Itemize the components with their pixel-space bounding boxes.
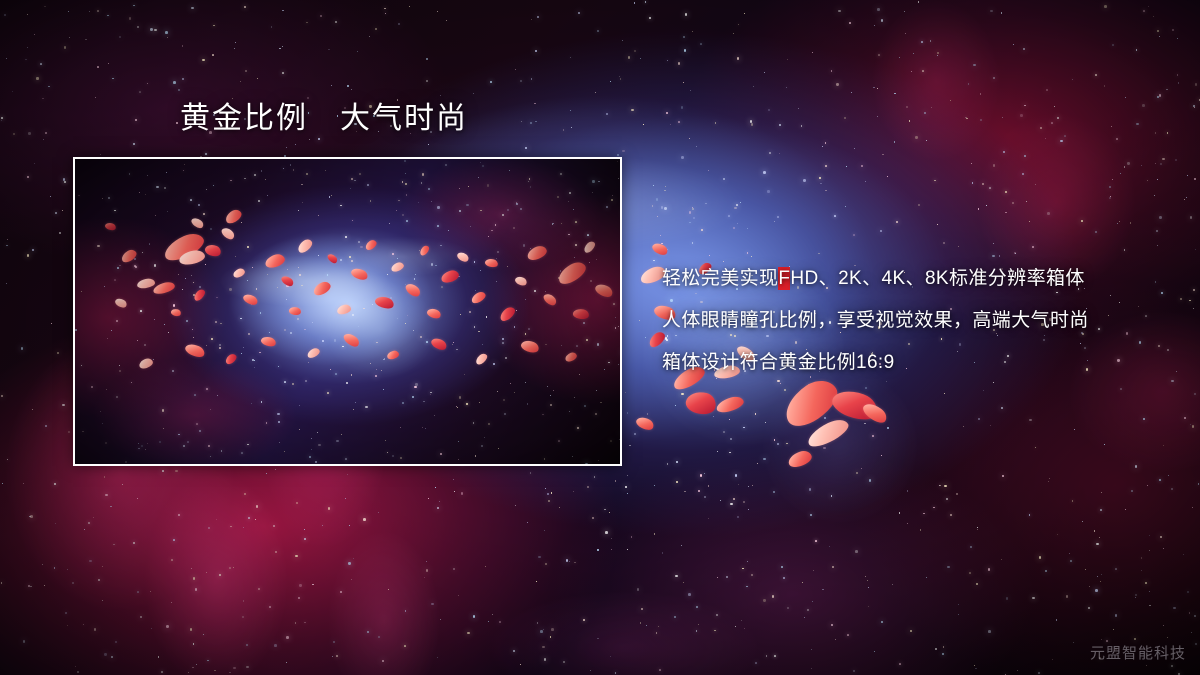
body-copy-line-1: 轻松完美实现FHD、2K、4K、8K标准分辨率箱体: [662, 258, 1162, 300]
body-copy-line-1-after: HD、2K、4K、8K标准分辨率箱体: [790, 268, 1084, 289]
slide-canvas: 黄金比例 大气时尚 轻松完美实现FHD、2K、4K、8K标准分辨率箱体 人体眼睛…: [0, 0, 1200, 675]
body-copy-block: 轻松完美实现FHD、2K、4K、8K标准分辨率箱体 人体眼睛瞳孔比例，享受视觉效…: [662, 258, 1162, 384]
framed-image-panel[interactable]: [73, 157, 622, 466]
framed-image-vignette: [75, 159, 620, 464]
watermark-logo-text: 元盟智能科技: [1090, 642, 1186, 663]
body-copy-line-1-before: 轻松完美实现: [662, 268, 778, 289]
body-copy-line-2: 人体眼睛瞳孔比例，享受视觉效果，高端大气时尚: [662, 300, 1162, 342]
body-copy-line-3: 箱体设计符合黄金比例16:9: [662, 342, 1162, 384]
page-title: 黄金比例 大气时尚: [180, 101, 468, 137]
body-copy-line-1-highlight: F: [778, 267, 790, 290]
